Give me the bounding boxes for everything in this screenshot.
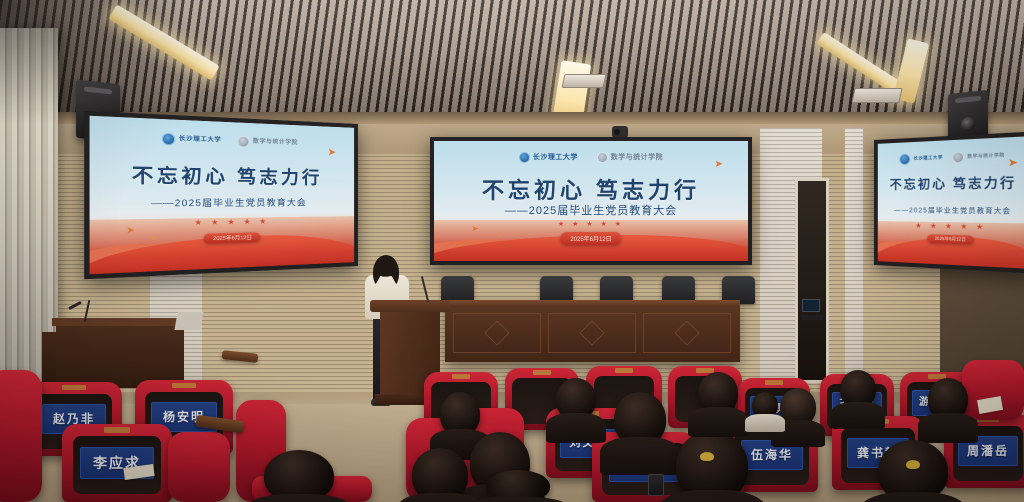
audience-head [412, 448, 468, 502]
bird-icon: ➤ [150, 235, 157, 243]
university-emblem-icon [162, 133, 175, 146]
university-emblem-icon [900, 153, 911, 165]
audience-head [486, 470, 550, 502]
university-logo: 长沙理工大学 [162, 133, 222, 147]
av-console-table [56, 318, 184, 388]
console-top [52, 318, 188, 326]
audience-head [264, 450, 334, 502]
hair-clip-icon [700, 452, 714, 461]
slide-subtitle: ——2025届毕业生党员教育大会 [90, 196, 355, 210]
audience-head [556, 378, 596, 420]
school-logo-text: 数学与统计学院 [611, 154, 664, 161]
stage-panel-desk [445, 300, 740, 362]
university-emblem-icon [519, 152, 530, 163]
audience-head [928, 378, 968, 420]
smartphone-icon [648, 474, 664, 496]
audience-head [840, 370, 876, 408]
seat-number-tag [615, 368, 633, 372]
auditorium-photo: ➤ ➤ ➤ 长沙理工大学 数学与统计学院 不忘初心 笃志力行 ——2025届毕业… [0, 0, 1024, 502]
seat[interactable]: 李应求 [62, 424, 172, 502]
speaker-cone [961, 116, 975, 131]
ceiling-air-vent [562, 74, 607, 88]
school-logo: 数学与统计学院 [597, 152, 664, 163]
slide-date-badge: 2025年6月12日 [204, 232, 261, 243]
slide-logo-row: 长沙理工大学 数学与统计学院 [434, 152, 748, 163]
seat-number-tag [533, 370, 551, 374]
university-logo-text: 长沙理工大学 [914, 155, 943, 160]
slide-main-title: 不忘初心 笃志力行 [434, 173, 748, 205]
school-logo: 数学与统计学院 [952, 149, 1005, 163]
seat[interactable] [168, 432, 230, 502]
control-room-doorway[interactable] [795, 178, 829, 383]
school-emblem-icon [237, 136, 249, 148]
university-logo-text: 长沙理工大学 [179, 137, 221, 144]
school-logo: 数学与统计学院 [237, 136, 298, 150]
university-logo: 长沙理工大学 [900, 152, 943, 165]
ceiling-led-light [551, 60, 592, 118]
seat-number-tag [172, 383, 196, 388]
desk-top [445, 300, 740, 307]
desk-panel [548, 313, 636, 353]
slide-stars: ★ ★ ★ ★ ★ [434, 220, 748, 228]
audience-head [676, 430, 748, 502]
slatted-ceiling [0, 0, 1024, 118]
seat-number-tag [452, 374, 470, 378]
audience-head [614, 392, 666, 446]
seat[interactable] [0, 370, 42, 502]
university-logo-text: 长沙理工大学 [533, 154, 578, 161]
slide-logo-row: 长沙理工大学 数学与统计学院 [878, 148, 1024, 165]
left-led-screen: ➤ ➤ ➤ 长沙理工大学 数学与统计学院 不忘初心 笃志力行 ——2025届毕业… [84, 111, 358, 280]
lectern-top [370, 300, 450, 312]
audience-head [752, 392, 778, 418]
school-emblem-icon [952, 151, 964, 163]
presentation-slide: ➤ ➤ ➤ 长沙理工大学 数学与统计学院 不忘初心 笃志力行 ——2025届毕业… [434, 141, 748, 261]
audience-head [440, 392, 480, 436]
wall-panel [845, 128, 863, 383]
school-emblem-icon [597, 152, 608, 163]
school-logo-text: 数学与统计学院 [967, 153, 1004, 159]
hair-clip-icon [906, 460, 920, 469]
monitor-icon [802, 299, 820, 312]
slide-date-badge: 2025年6月12日 [927, 234, 973, 244]
slide-subtitle: ——2025届毕业生党员教育大会 [878, 204, 1024, 215]
audience-head [698, 372, 738, 414]
seat-number-tag [62, 385, 85, 390]
audience-head [780, 388, 816, 426]
seat-number-tag [765, 380, 782, 384]
presentation-slide: ➤ ➤ ➤ 长沙理工大学 数学与统计学院 不忘初心 笃志力行 ——2025届毕业… [90, 116, 355, 275]
ceiling-air-vent [851, 88, 902, 103]
university-logo: 长沙理工大学 [519, 152, 578, 163]
laptop-icon [174, 312, 203, 330]
seat-number-tag [104, 427, 130, 432]
desk-panel [643, 313, 731, 353]
speaker-slot [84, 86, 112, 94]
bird-icon: ➤ [497, 232, 503, 239]
desk-panel [453, 313, 541, 353]
audience-head [878, 440, 948, 502]
slide-main-title: 不忘初心 笃志力行 [878, 172, 1024, 193]
right-led-screen: ➤ 长沙理工大学 数学与统计学院 不忘初心 笃志力行 ——2025届毕业生党员教… [874, 131, 1024, 273]
slide-logo-row: 长沙理工大学 数学与统计学院 [90, 130, 355, 151]
school-logo-text: 数学与统计学院 [253, 139, 298, 146]
slide-main-title: 不忘初心 笃志力行 [90, 159, 355, 190]
speaker-slot [955, 96, 981, 104]
desk-in-doorway [801, 315, 823, 320]
presentation-slide: ➤ 长沙理工大学 数学与统计学院 不忘初心 笃志力行 ——2025届毕业生党员教… [878, 136, 1024, 269]
slide-date-badge: 2025年6月12日 [560, 232, 621, 245]
slide-subtitle: ——2025届毕业生党员教育大会 [434, 202, 748, 218]
main-led-screen: ➤ ➤ ➤ 长沙理工大学 数学与统计学院 不忘初心 笃志力行 ——2025届毕业… [430, 137, 752, 265]
